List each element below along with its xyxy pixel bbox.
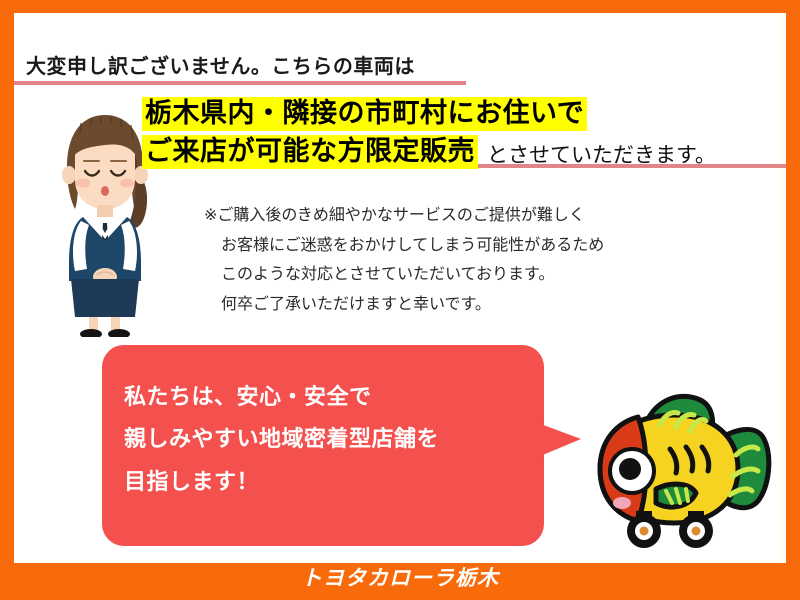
toy-fish-on-wheels-mascot — [586, 385, 782, 556]
note-paragraph: ※ご購入後のきめ細やかなサービスのご提供が難しく お客様にご迷惑をおかけしてしま… — [204, 201, 604, 319]
bubble-line-1: 私たちは、安心・安全で — [124, 376, 439, 418]
apology-heading: 大変申し訳ございません。こちらの車両は — [26, 50, 415, 79]
headline-highlight-2: ご来店が可能な方限定販売 — [142, 135, 478, 169]
note-line-4: 何卒ご了承いただけますと幸いです。 — [204, 290, 604, 320]
bubble-line-3: 目指します！ — [124, 461, 439, 503]
headline-tail-text: とさせていただきます。 — [487, 145, 716, 169]
white-panel: 大変申し訳ございません。こちらの車両は — [14, 13, 786, 563]
note-line-2: お客様にご迷惑をおかけしてしまう可能性があるため — [204, 231, 604, 261]
poster-canvas: 大変申し訳ございません。こちらの車両は — [0, 0, 800, 600]
dealer-logo-text: トヨタカローラ栃木 — [0, 562, 800, 592]
speech-bubble-tail — [538, 423, 581, 457]
main-headline: 栃木県内・隣接の市町村にお住いで ご来店が可能な方限定販売 とさせていただきます… — [142, 97, 786, 173]
heading-underline-rule — [14, 81, 466, 85]
headline-line-2: ご来店が可能な方限定販売 とさせていただきます。 — [142, 135, 786, 169]
note-line-3: このような対応とさせていただいております。 — [204, 260, 604, 290]
bubble-line-2: 親しみやすい地域密着型店舗を — [124, 418, 439, 460]
speech-bubble-text: 私たちは、安心・安全で 親しみやすい地域密着型店舗を 目指します！ — [124, 376, 439, 503]
headline-line-1: 栃木県内・隣接の市町村にお住いで — [142, 97, 786, 131]
note-line-1: ※ご購入後のきめ細やかなサービスのご提供が難しく — [204, 201, 604, 231]
headline-highlight-1: 栃木県内・隣接の市町村にお住いで — [142, 97, 587, 131]
